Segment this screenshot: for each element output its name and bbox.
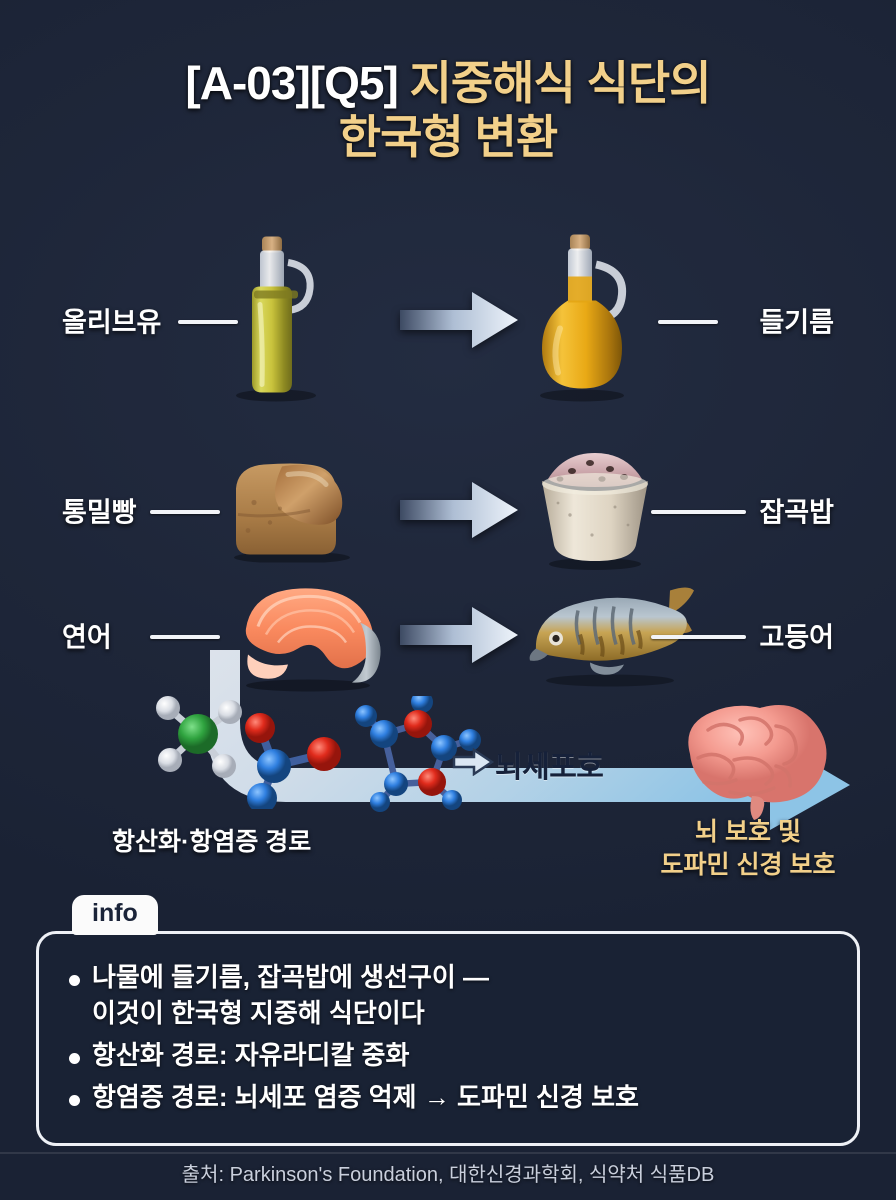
connector-line-left xyxy=(150,635,220,639)
bullet-dot-icon xyxy=(69,975,80,986)
title-line-2: 한국형 변환 xyxy=(0,110,896,164)
nitric-oxide-molecule-icon xyxy=(238,694,348,814)
info-box: 나물에 들기름, 잡곡밥에 생선구이 — 이것이 한국형 지중해 식단이다 항산… xyxy=(36,931,860,1146)
info-bullet-line: 이것이 한국형 지중해 식단이다 xyxy=(92,996,489,1032)
info-bullet-line: 항염증 경로: 뇌세포 염증 억제 → 도파민 신경 보호 xyxy=(92,1080,639,1116)
bullet-dot-icon xyxy=(69,1095,80,1106)
title-code: [A-03][Q5] xyxy=(185,57,409,109)
swap-label-left: 통밀빵 xyxy=(62,491,137,530)
connector-line-left xyxy=(150,510,220,514)
bullet-dot-icon xyxy=(69,1053,80,1064)
connector-line-right xyxy=(651,635,746,639)
title-main: 지중해식 식단의 xyxy=(410,57,711,109)
footer-divider xyxy=(0,1152,896,1154)
source-citation: 출처: Parkinson's Foundation, 대한신경과학회, 식약처… xyxy=(0,1158,896,1187)
swap-label-right: 고등어 xyxy=(759,616,834,655)
outcome-label: 뇌 보호 및 도파민 신경 보호 xyxy=(600,816,896,882)
info-bullet: 나물에 들기름, 잡곡밥에 생선구이 — 이것이 한국형 지중해 식단이다 xyxy=(69,960,827,1032)
whole-wheat-bread-icon xyxy=(218,453,368,568)
connector-line-right xyxy=(658,320,718,324)
human-brain-icon xyxy=(668,700,840,820)
perilla-oil-cruet-icon xyxy=(520,233,650,408)
pathway-label: 항산화·항염증 경로 xyxy=(112,822,311,858)
outcome-line-2: 도파민 신경 보호 xyxy=(600,849,896,882)
info-bullet: 항산화 경로: 자유라디칼 중화 xyxy=(69,1038,827,1074)
right-arrow-icon xyxy=(398,284,520,356)
outcome-line-1: 뇌 보호 및 xyxy=(600,816,896,849)
outline-right-arrow-icon xyxy=(452,748,494,776)
olive-oil-bottle-icon xyxy=(218,233,338,408)
swap-label-left: 올리브유 xyxy=(62,301,161,340)
info-tag: info xyxy=(72,895,158,935)
methane-molecule-icon xyxy=(150,690,250,785)
info-bullet-line: 항산화 경로: 자유라디칼 중화 xyxy=(92,1038,409,1074)
info-bullet: 항염증 경로: 뇌세포 염증 억제 → 도파민 신경 보호 xyxy=(69,1080,827,1116)
info-bullet-line: 나물에 들기름, 잡곡밥에 생선구이 — xyxy=(92,960,489,996)
info-bullet-text: 항산화 경로: 자유라디칼 중화 xyxy=(92,1038,409,1074)
swap-row-olive-oil: 올리브유 xyxy=(0,240,896,400)
flow-label: 뇌세포호 xyxy=(495,742,603,786)
infographic-page: [A-03][Q5] 지중해식 식단의 한국형 변환 올리브유 xyxy=(0,0,896,1200)
title-line-1: [A-03][Q5] 지중해식 식단의 xyxy=(0,56,896,110)
info-bullet-text: 항염증 경로: 뇌세포 염증 억제 → 도파민 신경 보호 xyxy=(92,1080,639,1116)
right-arrow-icon xyxy=(398,474,520,546)
connector-line-right xyxy=(651,510,746,514)
page-title: [A-03][Q5] 지중해식 식단의 한국형 변환 xyxy=(0,56,896,165)
info-bullet-text: 나물에 들기름, 잡곡밥에 생선구이 — 이것이 한국형 지중해 식단이다 xyxy=(92,960,489,1032)
swap-label-right: 잡곡밥 xyxy=(759,491,834,530)
swap-label-left: 연어 xyxy=(62,616,112,655)
swap-label-right: 들기름 xyxy=(759,301,834,340)
